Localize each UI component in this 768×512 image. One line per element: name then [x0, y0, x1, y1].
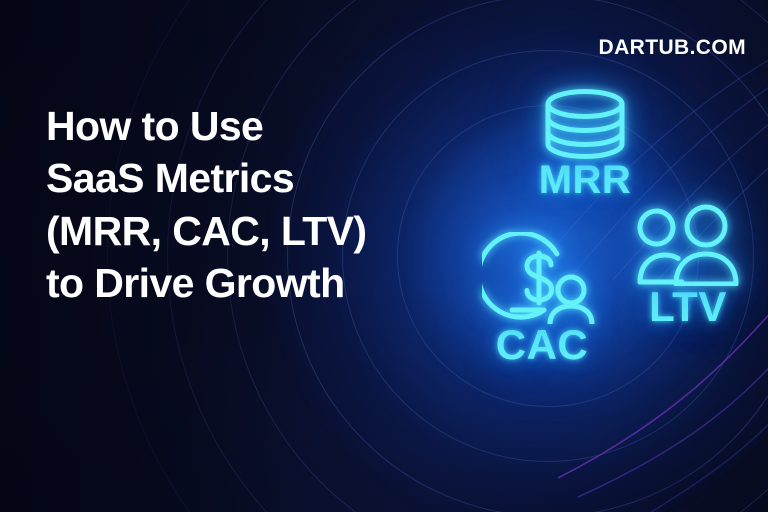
metric-label-mrr: MRR	[470, 160, 700, 200]
two-people-icon	[632, 204, 744, 286]
dollar-circle-person-icon	[482, 232, 602, 324]
metric-label-cac: CAC	[452, 324, 632, 366]
database-icon	[538, 88, 632, 160]
graphic-canvas: DARTUB.COM How to Use SaaS Metrics (MRR,…	[0, 0, 768, 512]
metric-mrr: MRR	[470, 88, 700, 200]
metric-ltv: LTV	[608, 204, 768, 328]
page-title: How to Use SaaS Metrics (MRR, CAC, LTV) …	[46, 100, 446, 310]
metric-label-ltv: LTV	[608, 286, 768, 328]
brand-watermark: DARTUB.COM	[599, 36, 746, 60]
metric-cac: CAC	[452, 232, 632, 366]
